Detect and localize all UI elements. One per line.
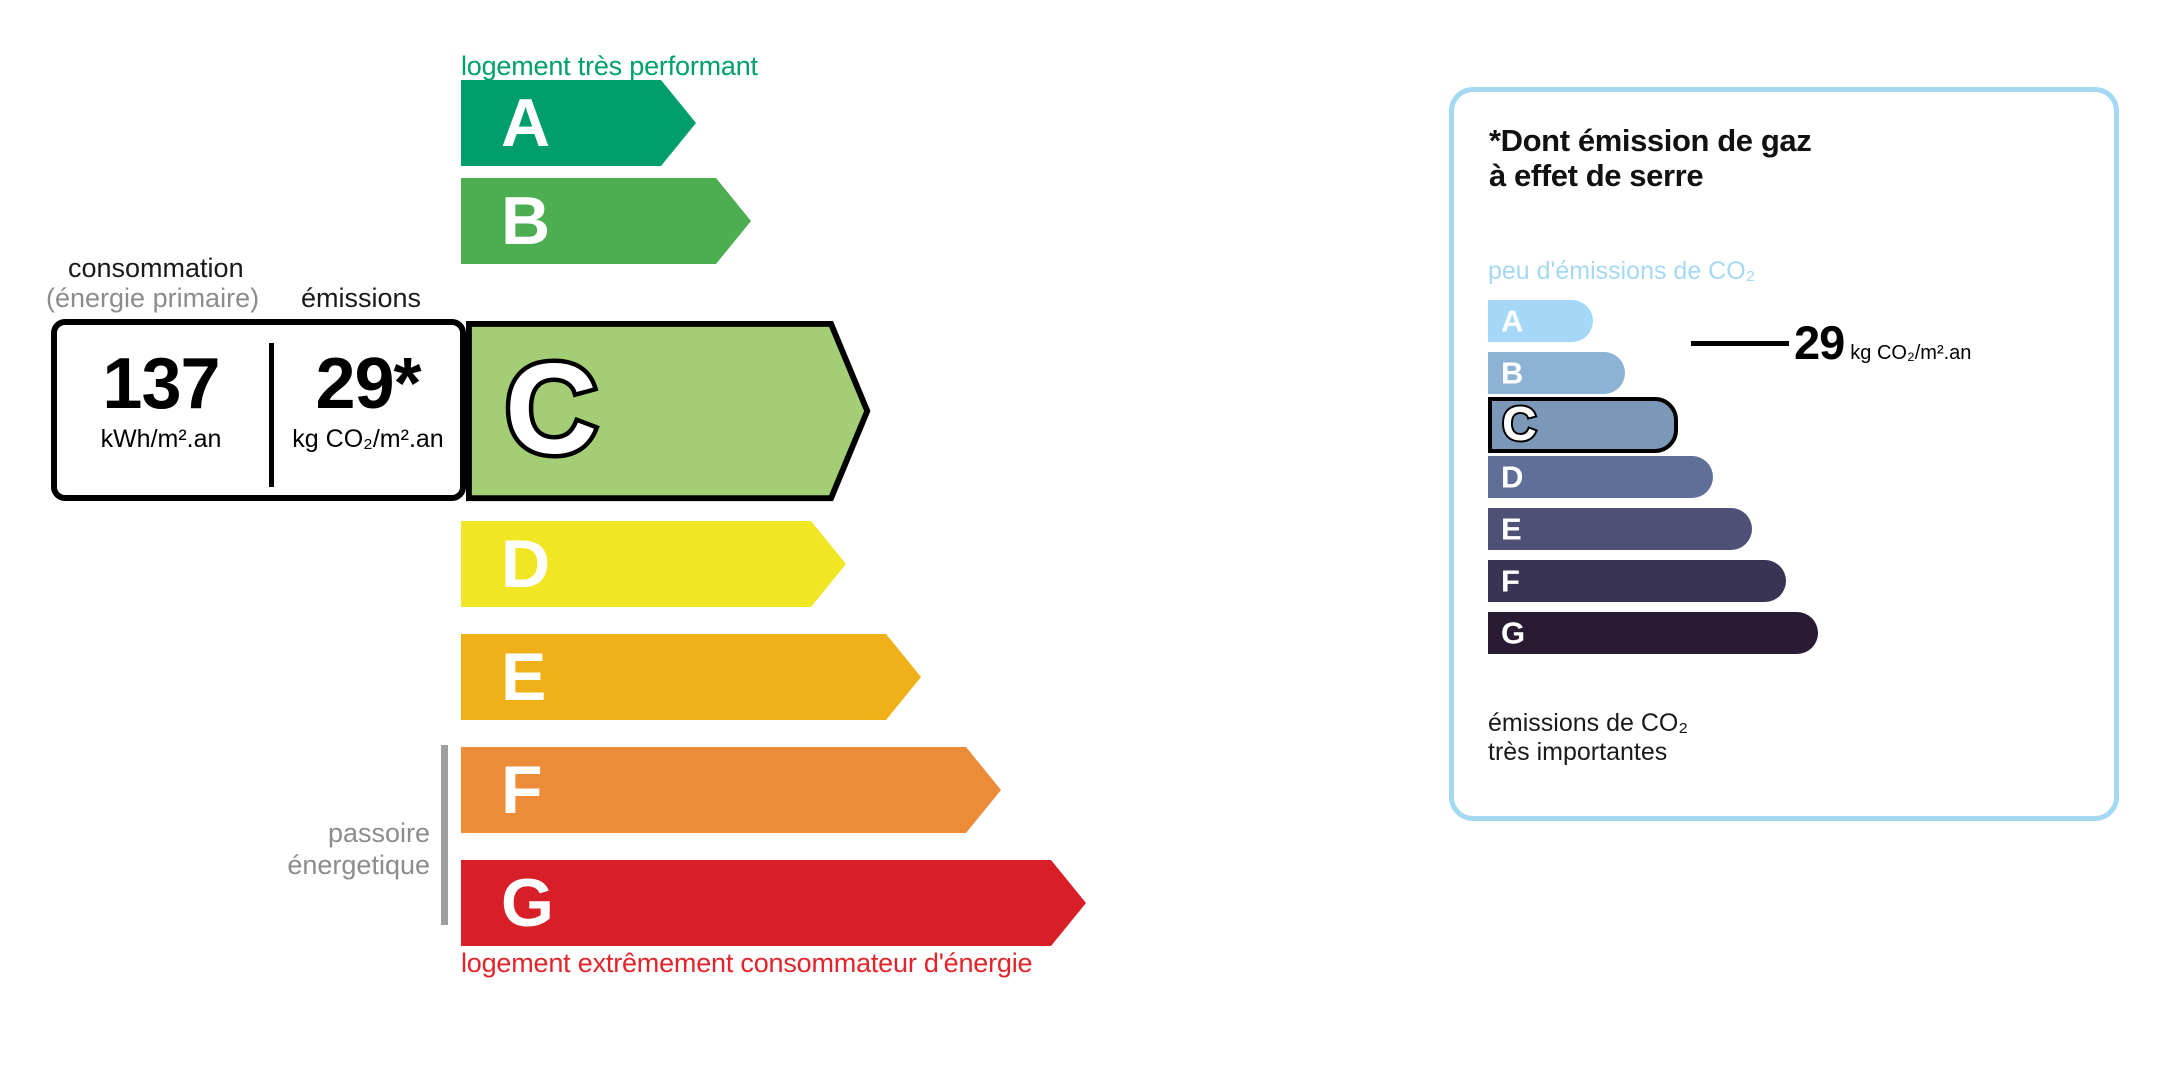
co2-bar-a-letter: A [1501,306,1523,337]
energy-band-a-letter: A [501,89,550,157]
energy-band-d: D [461,521,906,607]
co2-bar-g-row: G [1488,612,1818,654]
co2-bar-g [1488,612,1818,654]
energy-bottom-label: logement extrêmement consommateur d'éner… [461,948,1032,979]
energy-band-d-letter: D [501,530,550,598]
energy-band-e: E [461,634,981,720]
energy-band-f: F [461,747,1061,833]
co2-bar-e [1488,508,1752,550]
emissions-label: émissions [301,283,421,314]
co2-bar-c-letter: C [1502,401,1537,449]
consumption-value: 137 [57,347,265,423]
co2-bar-b-row: B [1488,352,1625,394]
co2-bar-f-row: F [1488,560,1786,602]
consumption-label: consommation [68,253,244,284]
co2-callout-value: 29kg CO₂/m².an [1794,315,1971,370]
energy-band-e-letter: E [501,643,546,711]
co2-title-line1: *Dont émission de gaz [1489,124,1811,159]
co2-bar-g-letter: G [1501,618,1525,649]
energy-performance-chart: logement très performant A B C [0,0,1400,1079]
co2-bar-d-letter: D [1501,462,1523,493]
co2-bottom-label-line1: émissions de CO₂ [1488,709,1688,738]
co2-bar-b-letter: B [1501,358,1523,389]
value-box: 137 kWh/m².an 29* kg CO₂/m².an [51,319,466,501]
energy-band-c-letter: C [505,346,597,474]
emission-unit: kg CO₂/m².an [273,425,463,454]
co2-callout-connector [1691,341,1789,346]
co2-bar-f [1488,560,1786,602]
consumption-unit: kWh/m².an [57,425,265,454]
energy-band-c-selected: C [461,321,931,499]
primary-energy-label: (énergie primaire) [46,283,259,314]
energy-top-label: logement très performant [461,51,758,82]
passoire-label-line1: passoire [270,818,430,850]
co2-bar-e-letter: E [1501,514,1522,545]
co2-bar-d-row: D [1488,456,1713,498]
co2-panel: *Dont émission de gaz à effet de serre p… [1449,87,2119,821]
energy-band-a: A [461,80,756,166]
co2-panel-title: *Dont émission de gaz à effet de serre [1489,124,1811,193]
energy-band-g: G [461,860,1146,946]
co2-title-line2: à effet de serre [1489,159,1811,194]
co2-bar-e-row: E [1488,508,1752,550]
co2-bar-c-row-selected: C [1488,404,1662,446]
passoire-label: passoire énergetique [270,818,430,882]
co2-bottom-label: émissions de CO₂ très importantes [1488,709,1688,767]
energy-band-g-letter: G [501,869,554,937]
co2-bottom-label-line2: très importantes [1488,738,1688,767]
emission-value-cell: 29* kg CO₂/m².an [273,347,463,454]
consumption-value-cell: 137 kWh/m².an [57,347,265,454]
energy-band-f-letter: F [501,756,543,824]
co2-bar-a-row: A [1488,300,1593,342]
co2-value-unit: kg CO₂/m².an [1850,342,1971,364]
co2-value-number: 29 [1794,316,1844,369]
co2-bar-f-letter: F [1501,566,1520,597]
passoire-label-line2: énergetique [270,850,430,882]
energy-band-b-letter: B [501,187,550,255]
emission-value: 29* [273,347,463,423]
energy-band-b: B [461,178,811,264]
passoire-bracket [441,745,448,925]
co2-top-label: peu d'émissions de CO₂ [1488,257,1755,286]
dpe-diagram: logement très performant A B C [0,0,2169,1079]
